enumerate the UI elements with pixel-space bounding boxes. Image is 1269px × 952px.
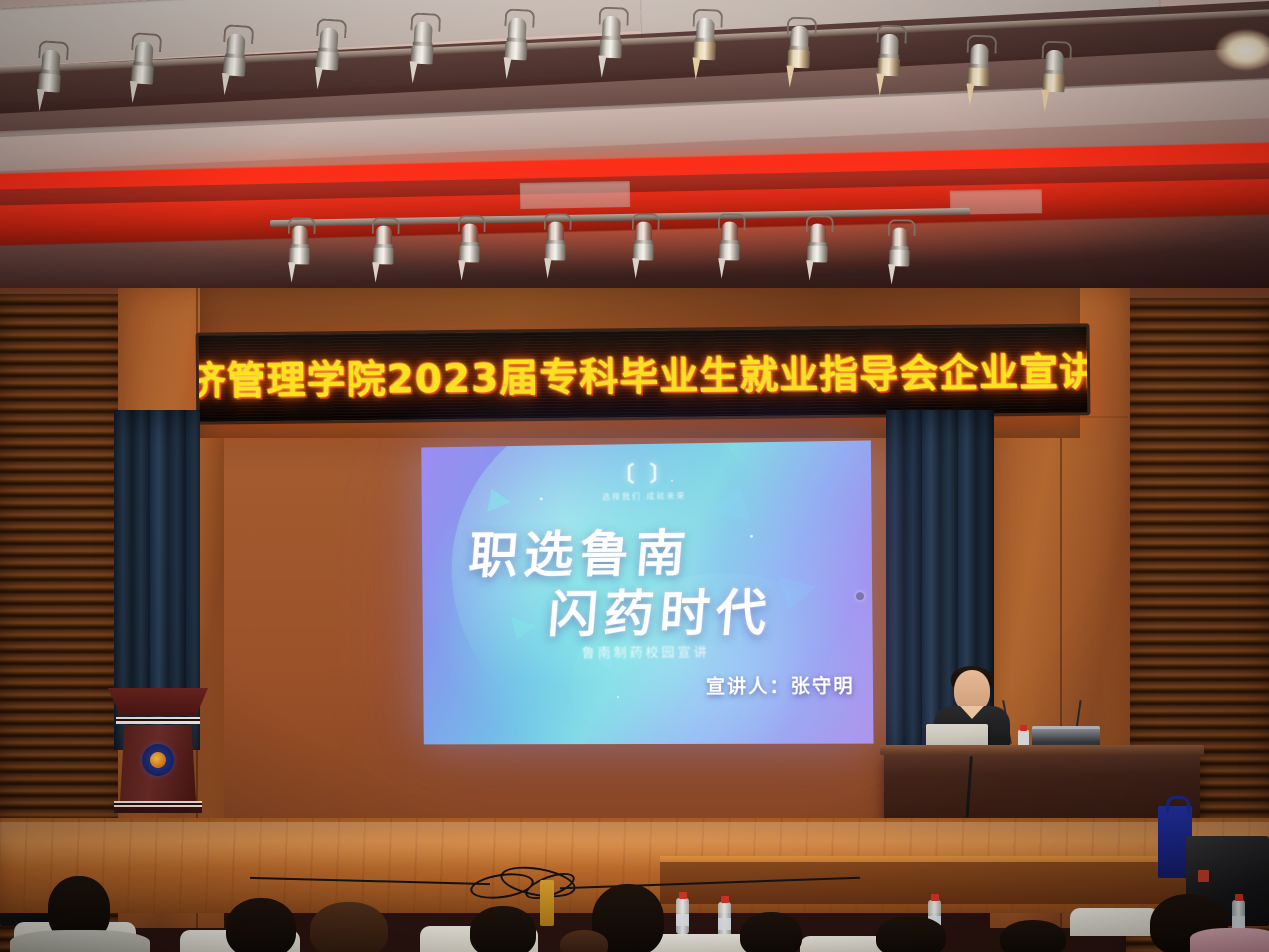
slide-logo-mark: 〔 〕: [421, 455, 871, 491]
ceiling-vent: [520, 181, 630, 209]
stage-riser: [660, 862, 1200, 904]
lectern-top: [108, 688, 208, 716]
speaker-badge: [1198, 870, 1209, 882]
slide-subtitle: 鲁南制药校园宣讲: [423, 641, 873, 663]
slide-corner-dot: [856, 592, 864, 600]
auditorium-photo: 经济管理学院2023届专科毕业生就业指导会企业宣讲会 〔 〕 选择我们 成就未来…: [0, 0, 1269, 952]
brass-stand: [540, 880, 554, 926]
audience-member: [470, 906, 536, 952]
lectern-base: [114, 801, 202, 813]
slide-headline-line2: 闪药时代: [546, 573, 776, 647]
audience-member: [10, 930, 150, 952]
projection-screen: 〔 〕 选择我们 成就未来 职选鲁南 闪药时代 鲁南制药校园宣讲 宣讲人：张守明: [421, 440, 873, 744]
ceiling: [0, 0, 1269, 300]
audience-member: [560, 930, 608, 952]
lectern-stripe: [116, 717, 200, 724]
led-banner-text: 经济管理学院2023届专科毕业生就业指导会企业宣讲会: [196, 341, 1091, 407]
recessed-downlight-icon: [1216, 30, 1269, 70]
audience-member: [1190, 928, 1269, 952]
slide-surface: 〔 〕 选择我们 成就未来 职选鲁南 闪药时代 鲁南制药校园宣讲 宣讲人：张守明: [421, 440, 873, 744]
slide-dot: [617, 696, 619, 698]
audience-member: [226, 898, 296, 952]
table-edge: [880, 745, 1204, 755]
water-bottle-icon: [718, 902, 731, 938]
audience-member: [1000, 920, 1066, 952]
audience-member: [876, 916, 946, 952]
slide-dot: [750, 535, 753, 538]
water-bottle-icon: [676, 898, 689, 934]
slide-logo: 〔 〕 选择我们 成就未来: [421, 455, 871, 505]
audience-member: [310, 902, 388, 952]
university-crest-icon: [142, 744, 174, 776]
auditorium-chair: [1070, 908, 1160, 936]
slide-speaker-label: 宣讲人：张守明: [706, 671, 855, 699]
lectern: [114, 688, 202, 818]
audience-member: [740, 912, 802, 952]
